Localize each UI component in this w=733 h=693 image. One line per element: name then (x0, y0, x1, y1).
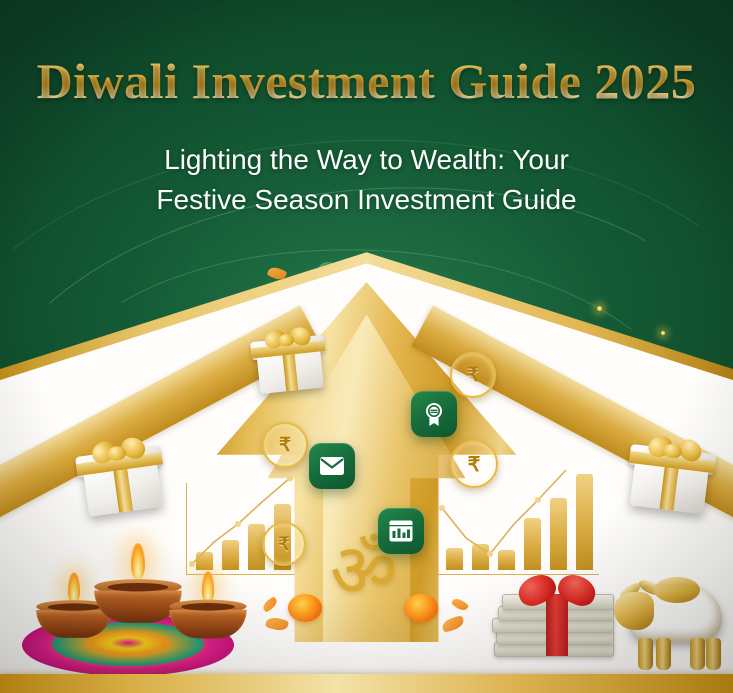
subtitle-line-2: Festive Season Investment Guide (117, 180, 617, 220)
bottom-gold-border (0, 674, 733, 693)
subtitle-line-1: Lighting the Way to Wealth: Your (117, 140, 617, 180)
diwali-investment-poster: ₹ ₹ ₹ ₹ (0, 0, 733, 693)
page-subtitle: Lighting the Way to Wealth: Your Festive… (117, 140, 617, 220)
page-title: Diwali Investment Guide 2025 (0, 52, 733, 110)
